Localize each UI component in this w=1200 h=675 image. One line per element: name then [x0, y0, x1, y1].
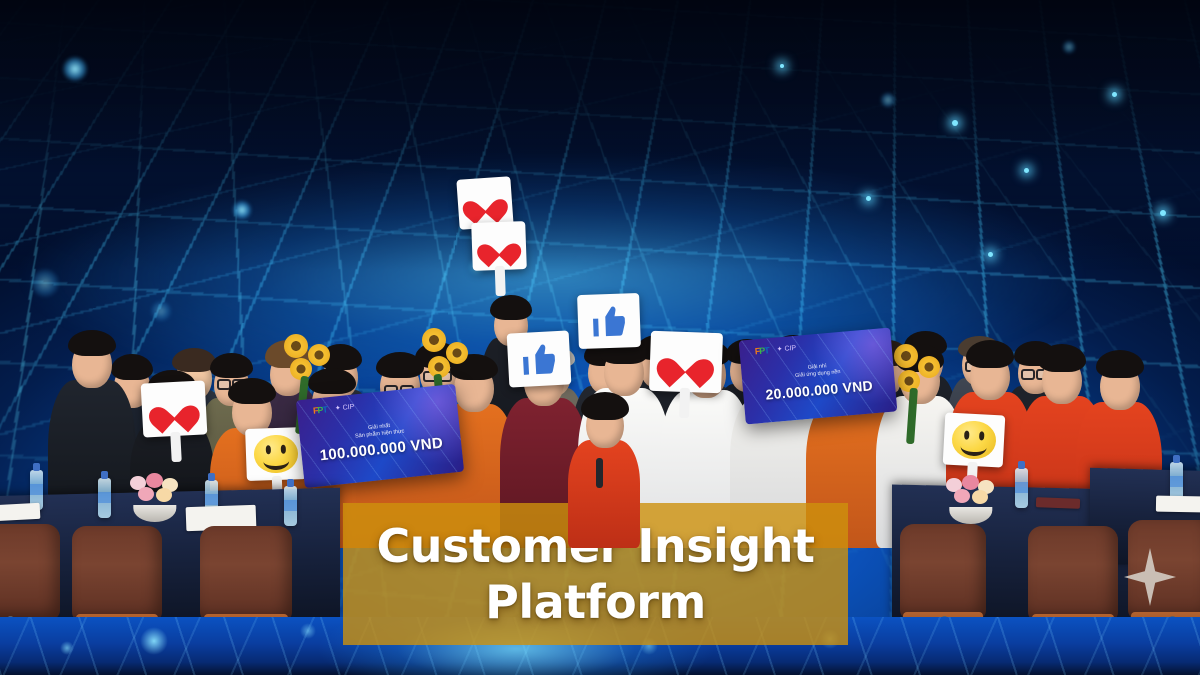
slide-canvas: FPT ✦ CIP Giải nhất Sản phẩm hiện thực 1…: [0, 0, 1200, 675]
fpt-logo-icon: FPT: [312, 404, 327, 415]
prize-line2: Giải ứng dụng nền: [795, 369, 841, 380]
fpt-logo-icon: FPT: [754, 345, 769, 356]
thumbs-up-icon: [516, 338, 563, 379]
cip-logo-icon: ✦ CIP: [334, 403, 354, 413]
person: [568, 388, 640, 548]
smiley-sign: [943, 412, 1006, 467]
like-sign: [507, 330, 572, 387]
heart-sign: [141, 380, 208, 437]
cip-logo-icon: ✦ CIP: [776, 344, 796, 354]
title-line-2: Platform: [485, 575, 706, 629]
smiley-face-icon: [254, 435, 298, 474]
microphone-icon: [596, 458, 603, 488]
prize-amount: 20.000.000 VND: [765, 377, 874, 402]
prize-board-left: FPT ✦ CIP Giải nhất Sản phẩm hiện thực 1…: [296, 384, 464, 488]
person: [1076, 322, 1162, 548]
person: [48, 298, 136, 548]
like-sign: [577, 293, 641, 349]
prize-board-right: FPT ✦ CIP Giải nhì Giải ứng dụng nền 20.…: [739, 328, 898, 425]
thumbs-up-icon: [586, 301, 632, 341]
heart-sign: [649, 331, 723, 393]
prize-amount: 100.000.000 VND: [319, 435, 444, 465]
smiley-face-icon: [951, 420, 996, 460]
heart-sign: [471, 221, 527, 271]
flower-bouquet: [888, 340, 952, 448]
